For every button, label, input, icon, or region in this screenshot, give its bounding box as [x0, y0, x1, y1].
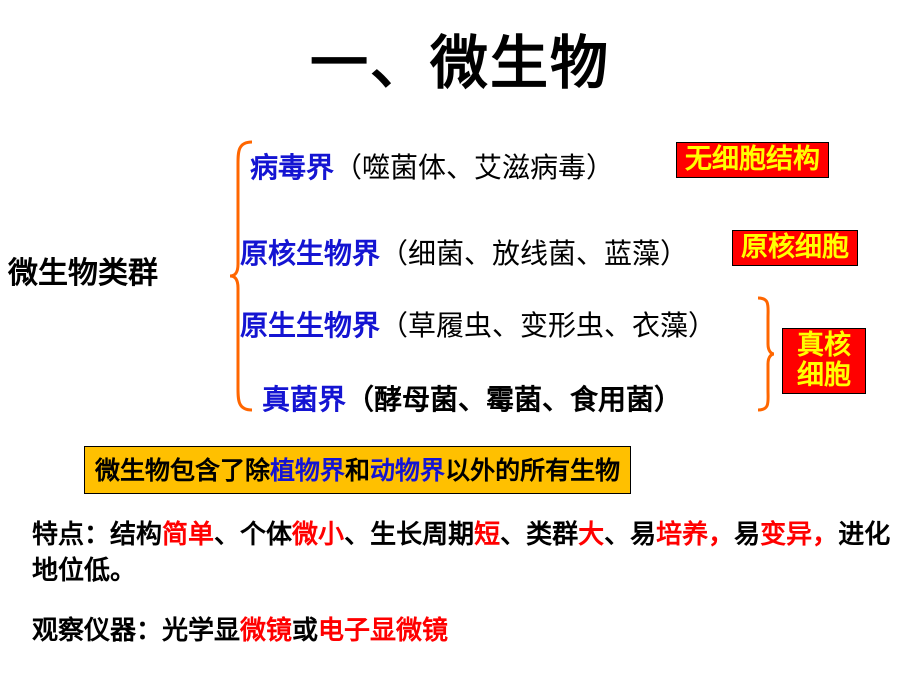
- right-brace-icon: [756, 296, 776, 412]
- feature-t5: 易: [734, 520, 760, 550]
- status-badge-prokaryotic-cell: 原核细胞: [732, 230, 858, 266]
- kingdom-label-fungi: 真菌界: [262, 383, 346, 416]
- banner-part1: 微生物包含了除: [95, 456, 270, 485]
- slide-root: 一、微生物 微生物类群 病毒界（噬菌体、艾滋病毒） 无细胞结构 原核生物界（细菌…: [0, 0, 920, 690]
- status-badge-acellular: 无细胞结构: [676, 142, 829, 178]
- feature-mutation: 变异，: [760, 520, 838, 550]
- kingdom-label-virus: 病毒界: [250, 151, 334, 184]
- row-prokaryote: 原核生物界（细菌、放线菌、蓝藻）: [240, 232, 688, 272]
- feature-t4: 、易: [604, 520, 656, 550]
- feature-t2: 、生长周期: [344, 520, 474, 550]
- status-badge-eukaryotic-cell: 真核 细胞: [782, 328, 866, 394]
- feature-t3: 、类群: [500, 520, 578, 550]
- feature-tiny: 微小: [292, 520, 344, 550]
- page-title: 一、微生物: [0, 16, 920, 100]
- row-protist: 原生生物界（草履虫、变形虫、衣藻）: [240, 304, 716, 344]
- examples-virus: （噬菌体、艾滋病毒）: [334, 151, 614, 184]
- features-paragraph: 特点：结构简单、个体微小、生长周期短、类群大、易培养，易变异，进化地位低。: [32, 518, 892, 590]
- feature-large: 大: [578, 520, 604, 550]
- examples-fungi: （酵母菌、霉菌、食用菌）: [346, 383, 682, 416]
- instrument-prefix: 观察仪器：光学显: [32, 616, 240, 646]
- banner-animal-kingdom: 动物界: [370, 456, 445, 485]
- summary-banner: 微生物包含了除植物界和动物界以外的所有生物: [84, 446, 631, 494]
- banner-plant-kingdom: 植物界: [270, 456, 345, 485]
- status-badge-eukaryotic-cell-line2: 细胞: [791, 361, 857, 391]
- instrument-line: 观察仪器：光学显微镜或电子显微镜: [32, 610, 448, 647]
- kingdom-label-protist: 原生生物界: [240, 309, 380, 342]
- feature-culture: 培养，: [656, 520, 734, 550]
- group-label: 微生物类群: [8, 248, 158, 292]
- row-virus: 病毒界（噬菌体、艾滋病毒）: [250, 146, 614, 186]
- feature-simple: 简单: [162, 520, 214, 550]
- banner-part2: 和: [345, 456, 370, 485]
- feature-short: 短: [474, 520, 500, 550]
- examples-prokaryote: （细菌、放线菌、蓝藻）: [380, 237, 688, 270]
- instrument-mid: 或: [292, 616, 318, 646]
- instrument-microscope: 微镜: [240, 616, 292, 646]
- kingdom-label-prokaryote: 原核生物界: [240, 237, 380, 270]
- banner-part3: 以外的所有生物: [445, 456, 620, 485]
- row-fungi: 真菌界（酵母菌、霉菌、食用菌）: [262, 378, 682, 418]
- instrument-electron-microscope: 电子显微镜: [318, 616, 448, 646]
- examples-protist: （草履虫、变形虫、衣藻）: [380, 309, 716, 342]
- feature-t1: 、个体: [214, 520, 292, 550]
- status-badge-eukaryotic-cell-line1: 真核: [791, 331, 857, 361]
- feature-prefix: 特点：结构: [32, 520, 162, 550]
